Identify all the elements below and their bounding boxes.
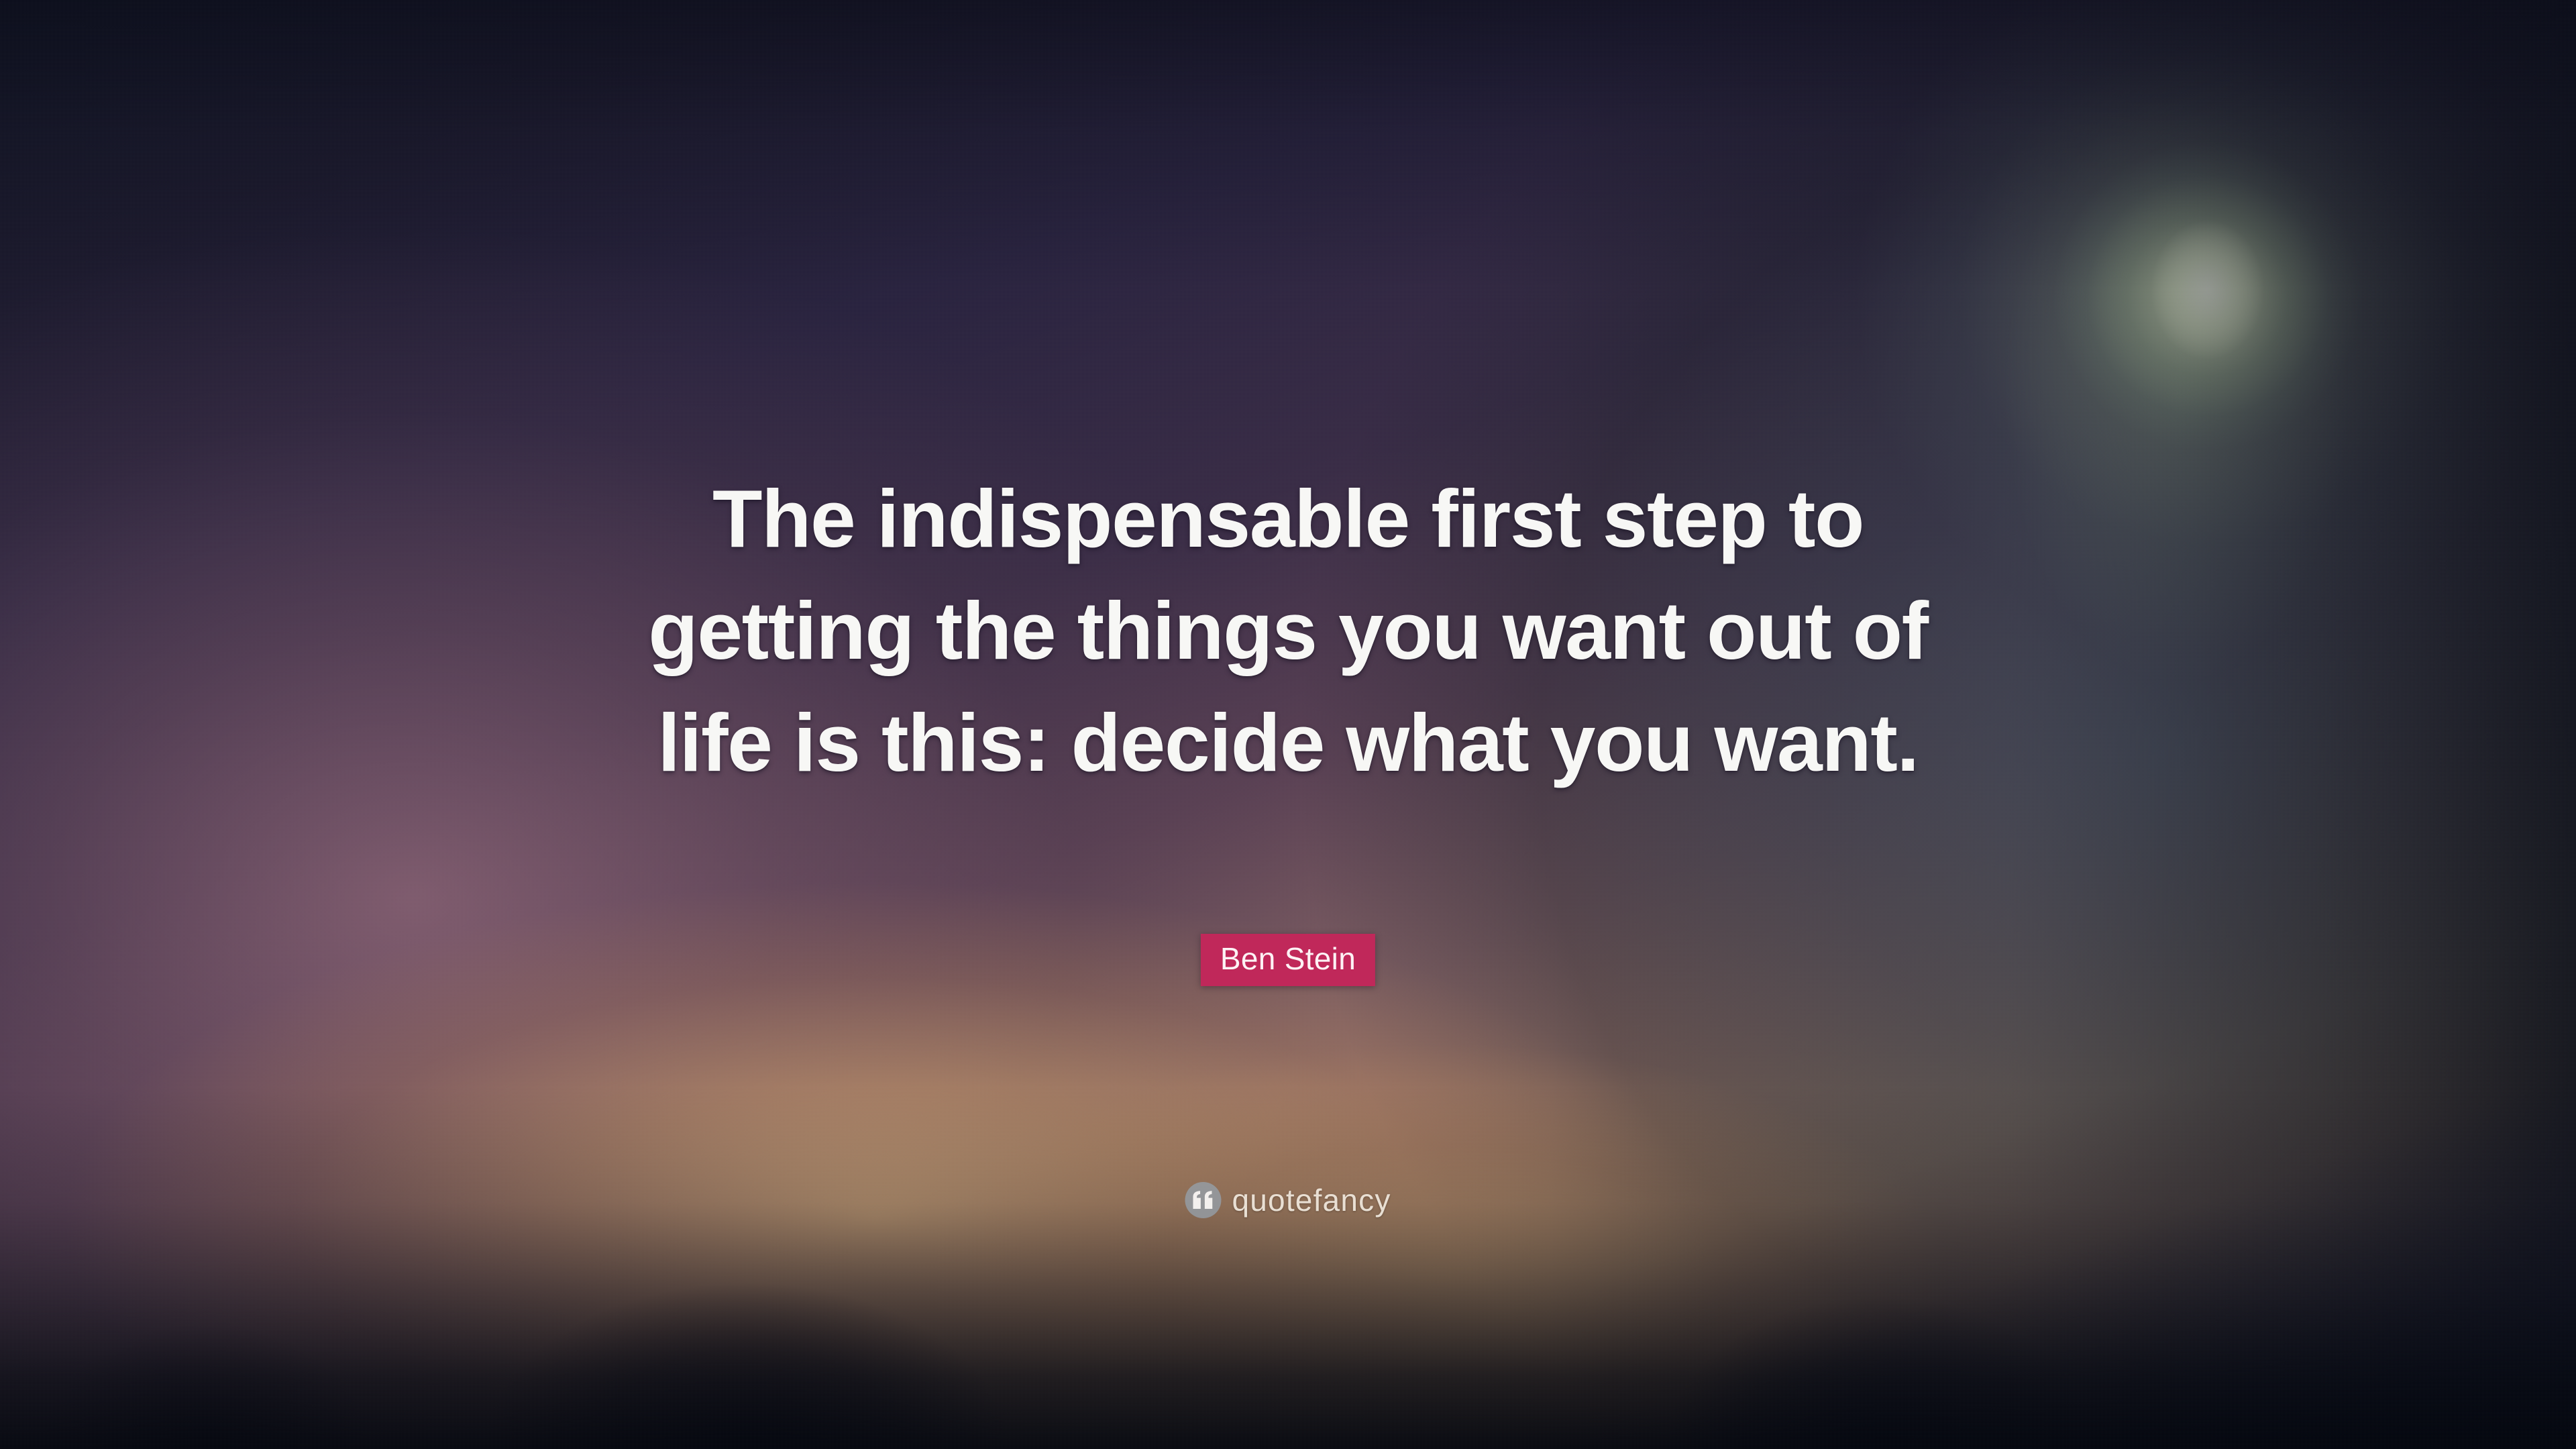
quote-line-1: The indispensable first step to (382, 463, 2194, 575)
quote-line-3: life is this: decide what you want. (382, 687, 2194, 799)
author-name: Ben Stein (1220, 943, 1356, 975)
quote-line-2: getting the things you want out of (382, 575, 2194, 687)
author-badge[interactable]: Ben Stein (1201, 934, 1375, 986)
quote-text: The indispensable first step to getting … (382, 463, 2194, 799)
quote-poster: The indispensable first step to getting … (0, 0, 2576, 1449)
quotefancy-brand-label: quotefancy (1232, 1183, 1391, 1217)
poster-content: The indispensable first step to getting … (0, 0, 2576, 1449)
quote-mark-icon (1185, 1182, 1221, 1218)
quotefancy-watermark[interactable]: quotefancy (1185, 1182, 1391, 1218)
